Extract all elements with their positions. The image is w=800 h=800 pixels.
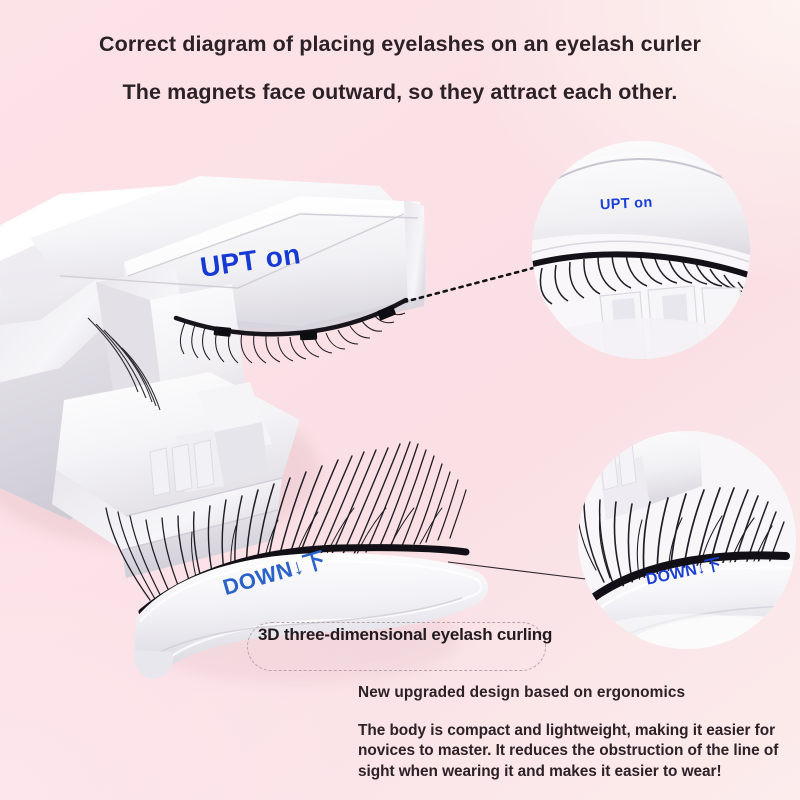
infographic-page: Correct diagram of placing eyelashes on … — [0, 0, 800, 800]
description-paragraph: The body is compact and lightweight, mak… — [358, 721, 788, 782]
ergonomics-heading: New upgraded design based on ergonomics — [358, 684, 788, 702]
leader-top-dotted — [404, 262, 556, 302]
bottom-copy-block: New upgraded design based on ergonomics … — [358, 684, 788, 782]
headline-secondary: The magnets face outward, so they attrac… — [0, 80, 800, 105]
inset-circle-bottom-right — [578, 430, 798, 666]
product-illustration — [0, 0, 800, 800]
headline-primary: Correct diagram of placing eyelashes on … — [0, 32, 800, 57]
inset-circle-top-right — [506, 120, 792, 380]
callout-3d-label: 3D three-dimensional eyelash curling — [258, 624, 558, 646]
